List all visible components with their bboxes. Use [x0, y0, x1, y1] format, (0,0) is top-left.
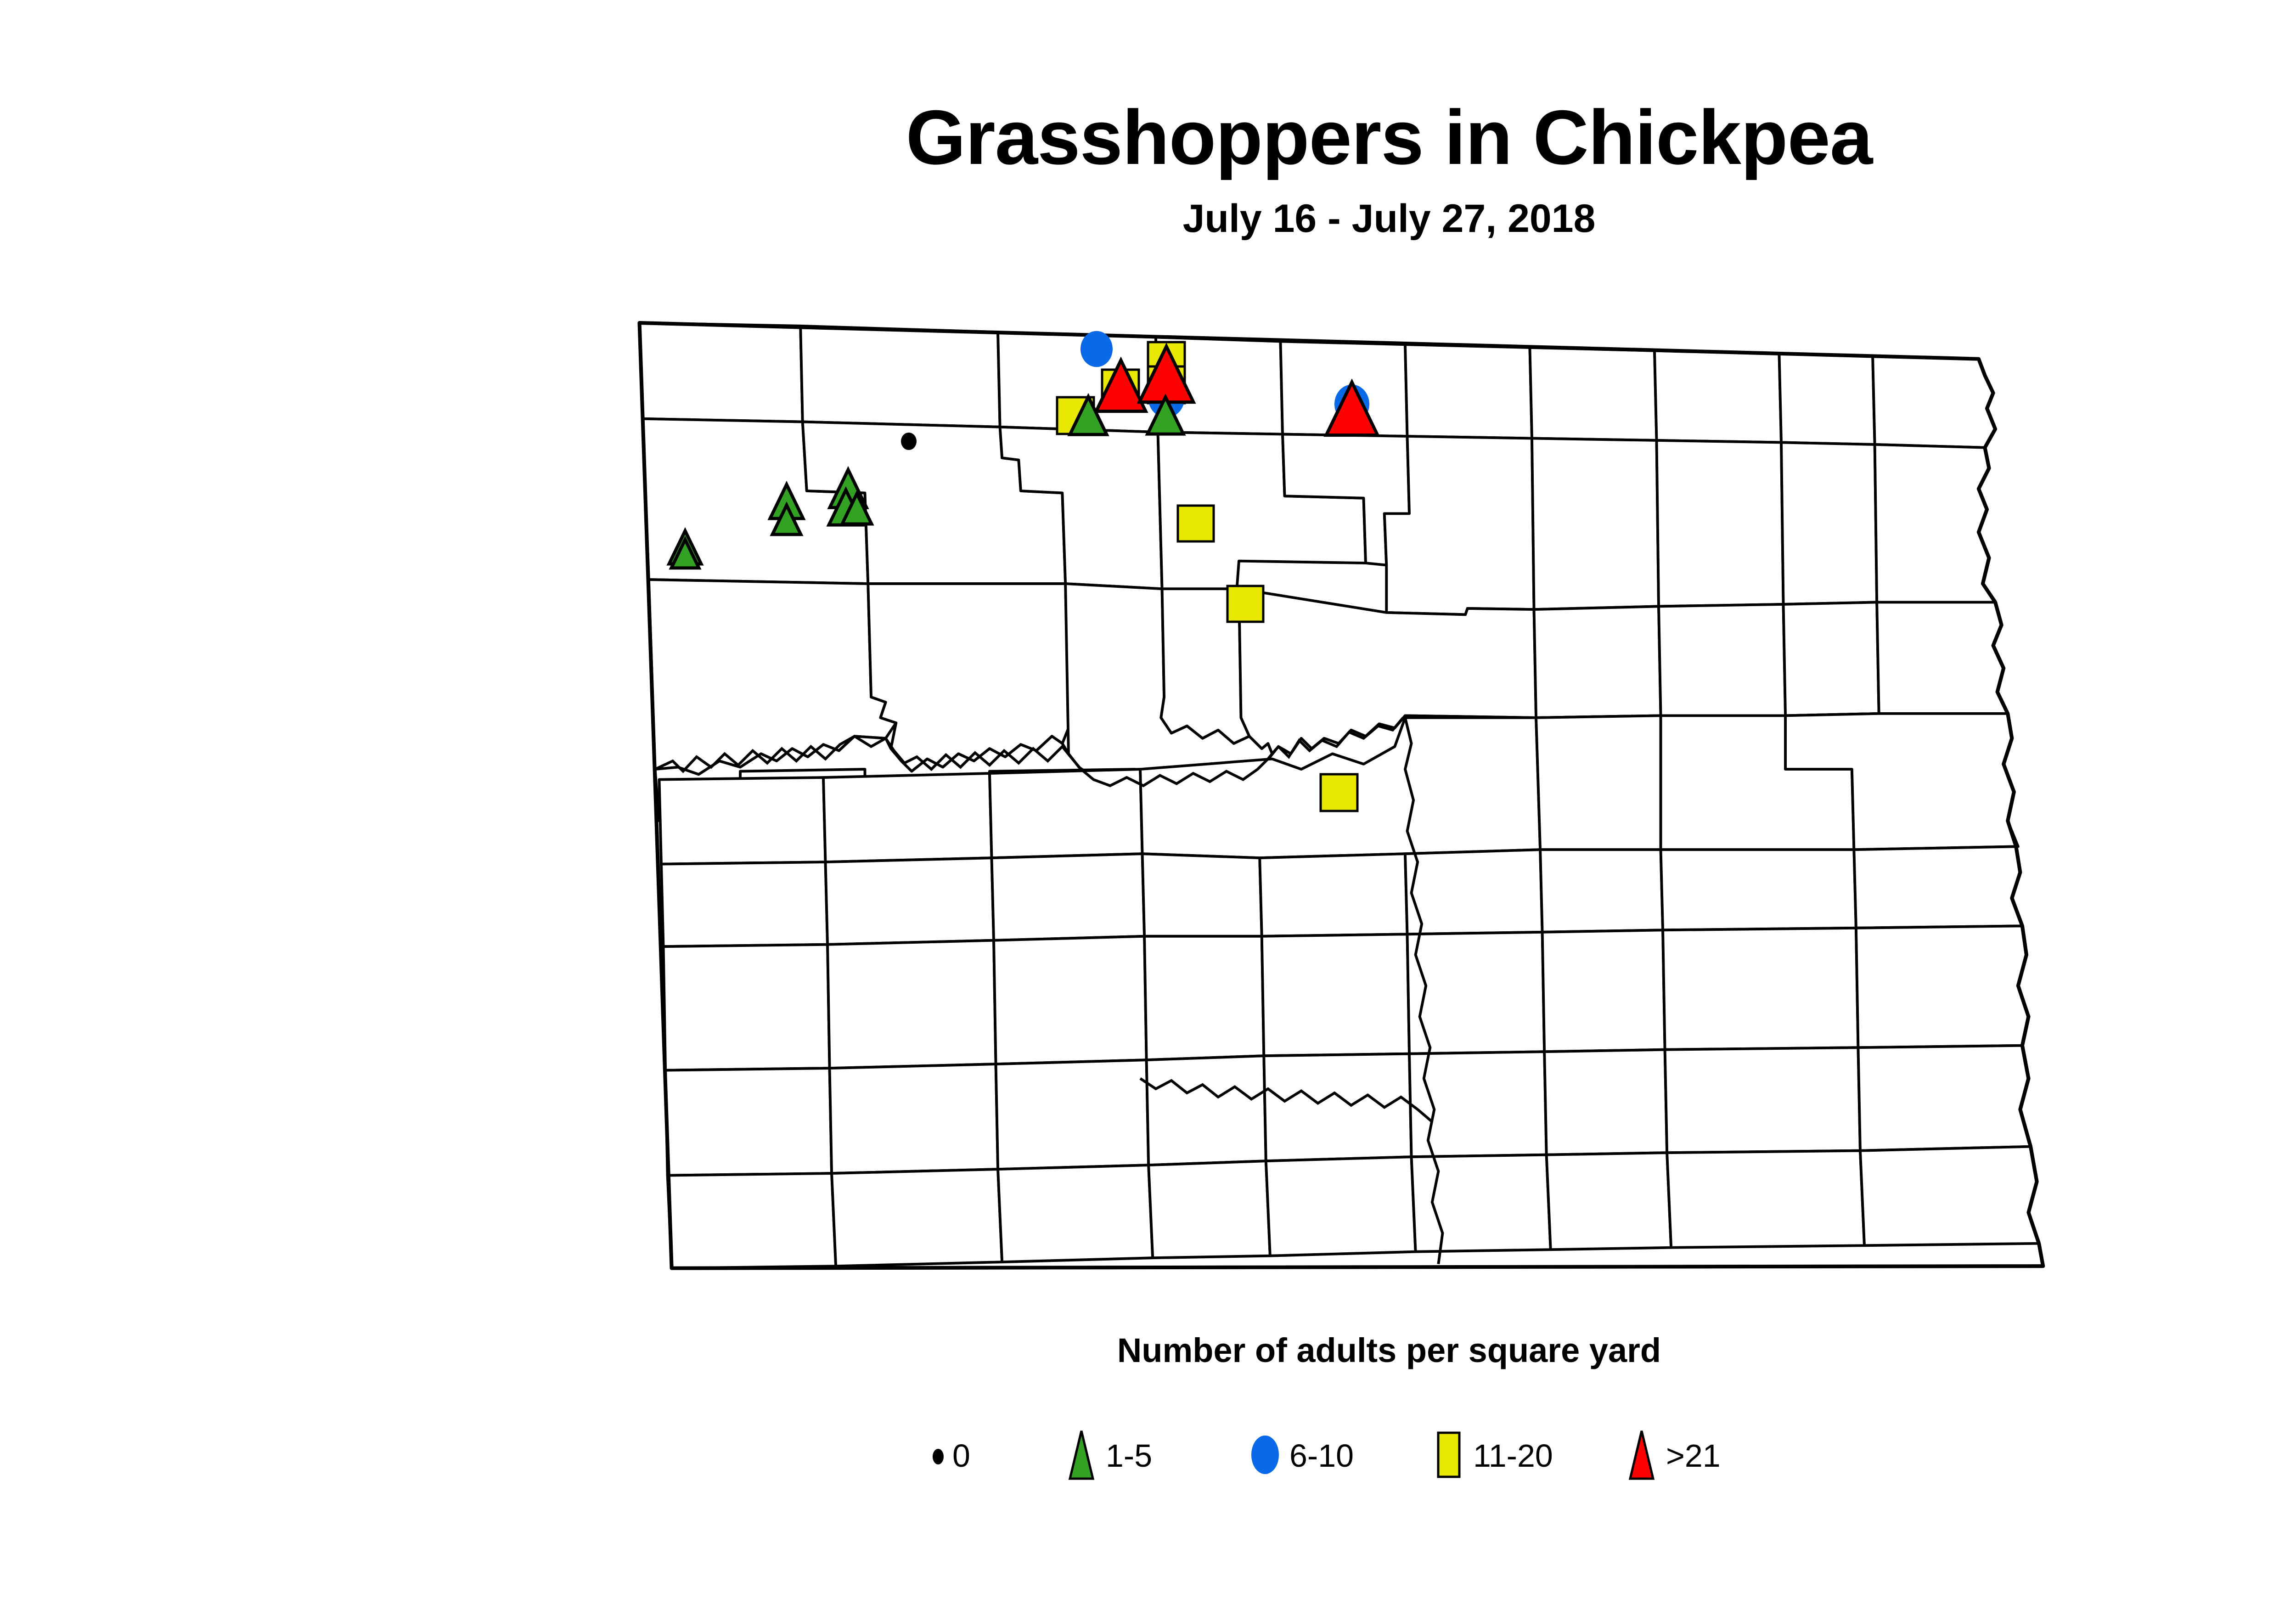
north-dakota-map [574, 285, 2236, 1295]
legend-item-1-5: 1-5 [1061, 1421, 1152, 1490]
legend-item-6-10: 6-10 [1244, 1421, 1354, 1490]
page-subtitle: July 16 - July 27, 2018 [0, 199, 2296, 238]
legend-item-11-20: 11-20 [1428, 1421, 1553, 1490]
legend-title: Number of adults per square yard [0, 1331, 2296, 1370]
county-boundaries [640, 323, 2039, 1268]
legend-item-label: 1-5 [1106, 1437, 1152, 1474]
dot-marker [928, 1441, 949, 1471]
legend-item-label: >21 [1666, 1437, 1721, 1474]
county-cells-lower [659, 714, 2039, 1268]
legend-item-label: 11-20 [1473, 1437, 1553, 1474]
triangle-marker-red [1621, 1427, 1662, 1485]
legend-item--21: >21 [1621, 1421, 1721, 1490]
map-svg [574, 285, 2236, 1295]
map-page: Grasshoppers in Chickpea July 16 - July … [0, 0, 2296, 1610]
page-title: Grasshoppers in Chickpea [0, 99, 2296, 176]
square-marker-yellow [1428, 1427, 1469, 1485]
circle-marker-blue [1244, 1427, 1286, 1485]
triangle-marker-green [1061, 1427, 1102, 1485]
legend-item-0: 0 [928, 1421, 970, 1490]
legend-item-label: 6-10 [1289, 1437, 1354, 1474]
legend-item-label: 0 [952, 1437, 970, 1474]
title-block: Grasshoppers in Chickpea July 16 - July … [0, 99, 2296, 238]
